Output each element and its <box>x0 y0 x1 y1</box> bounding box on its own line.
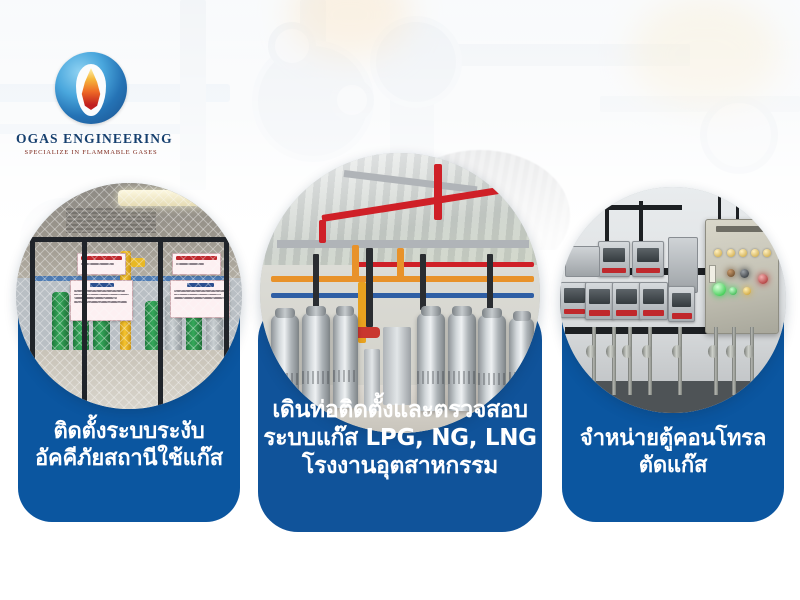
photo-gas-meter <box>632 241 663 277</box>
caption-line: โรงงานอุตสาหกรรม <box>258 452 542 480</box>
photo-black-pipe <box>420 254 426 310</box>
photo-cabinet-knob <box>714 249 722 257</box>
service-card-fire-suppression[interactable]: ติดตั้งระบบระงับ อัคคีภัยสถานีใช้แก๊ส <box>18 268 240 522</box>
card-caption: เดินท่อติดตั้งและตรวจสอบ ระบบแก๊ส LPG, N… <box>258 396 542 480</box>
photo-blue-pipe <box>271 293 534 298</box>
photo-cabinet-knob <box>739 249 747 257</box>
photo-gas-meter <box>639 282 668 320</box>
photo-push-button <box>727 269 735 277</box>
caption-line: อัคคีภัยสถานีใช้แก๊ส <box>18 445 240 472</box>
service-card-control-cabinet[interactable]: จำหน่ายตู้คอนโทรล ตัดแก๊ส <box>562 270 784 522</box>
photo-cabinet-knob <box>727 249 735 257</box>
brand-tagline: SPECIALIZE IN FLAMMABLE GASES <box>16 149 166 156</box>
photo-fence-rail <box>25 237 228 242</box>
card-caption: ติดตั้งระบบระงับ อัคคีภัยสถานีใช้แก๊ส <box>18 418 240 472</box>
brand-logo: OGAS ENGINEERING SPECIALIZE IN FLAMMABLE… <box>16 52 166 156</box>
caption-line: ตัดแก๊ส <box>562 452 784 479</box>
photo-gas-detection-control-cabinet <box>705 219 779 334</box>
photo-drop-pipe <box>732 327 736 395</box>
poster-canvas: OGAS ENGINEERING SPECIALIZE IN FLAMMABLE… <box>0 0 800 600</box>
photo-wall-box <box>565 246 601 277</box>
photo-drop-pipe <box>750 327 754 395</box>
photo-red-fire-riser <box>434 164 442 220</box>
photo-label-plate <box>709 265 716 283</box>
photo-gas-meter <box>668 286 695 322</box>
photo-green-indicator-lamp <box>713 283 726 296</box>
brand-name: OGAS ENGINEERING <box>16 131 166 147</box>
caption-line: ระบบแก๊ส LPG, NG, LNG <box>258 424 542 452</box>
photo-push-button <box>740 269 749 278</box>
photo-fence-post <box>82 237 87 409</box>
photo-gas-meter <box>612 282 641 320</box>
photo-green-indicator-lamp <box>729 287 737 295</box>
photo-gas-meter <box>585 282 614 320</box>
photo-fence-post <box>224 237 229 409</box>
card-caption: จำหน่ายตู้คอนโทรล ตัดแก๊ส <box>562 425 784 479</box>
photo-lpg-tank <box>271 315 299 407</box>
photo-pipe-valve <box>672 345 682 358</box>
gas-control-panel-photo <box>560 187 786 413</box>
photo-red-fire-riser <box>319 220 326 242</box>
photo-orange-riser <box>352 245 359 281</box>
photo-drop-pipe <box>592 327 596 395</box>
photo-black-pipe <box>487 254 493 310</box>
photo-amber-indicator-lamp <box>743 287 751 295</box>
service-card-piping-inspection[interactable]: เดินท่อติดตั้งและตรวจสอบ ระบบแก๊ส LPG, N… <box>258 300 542 532</box>
photo-red-pipe <box>355 262 534 266</box>
photo-fence-post <box>30 237 35 409</box>
photo-lpg-tank <box>333 313 358 408</box>
photo-black-pipe <box>366 248 372 326</box>
flame-droplet-globe-icon <box>55 52 127 124</box>
photo-drop-pipe <box>648 327 652 395</box>
caption-line: เดินท่อติดตั้งและตรวจสอบ <box>258 396 542 424</box>
lpg-plant-room-photo <box>260 153 540 433</box>
caption-line: ติดตั้งระบบระงับ <box>18 418 240 445</box>
photo-drop-pipe <box>612 327 616 395</box>
photo-roof-beam <box>277 240 529 248</box>
photo-gas-meter <box>598 241 629 277</box>
photo-chainlink-mesh <box>16 183 242 409</box>
photo-drop-pipe <box>714 327 718 395</box>
photo-vaporizer-cabinet <box>383 327 411 405</box>
photo-drop-pipe <box>628 327 632 395</box>
caption-line: จำหน่ายตู้คอนโทรล <box>562 425 784 452</box>
photo-lpg-tank <box>509 318 534 405</box>
photo-lpg-tank <box>478 315 506 407</box>
gas-cylinder-cage-photo <box>16 183 242 409</box>
photo-cabinet-knob <box>751 249 759 257</box>
photo-junction-cabinet <box>668 237 697 293</box>
photo-red-indicator-lamp <box>758 274 768 284</box>
photo-orange-riser <box>397 248 404 282</box>
photo-cabinet-knob <box>763 249 771 257</box>
photo-fence-post <box>158 237 163 409</box>
photo-cabinet-nameplate <box>716 226 768 232</box>
photo-drop-pipe <box>678 327 682 395</box>
